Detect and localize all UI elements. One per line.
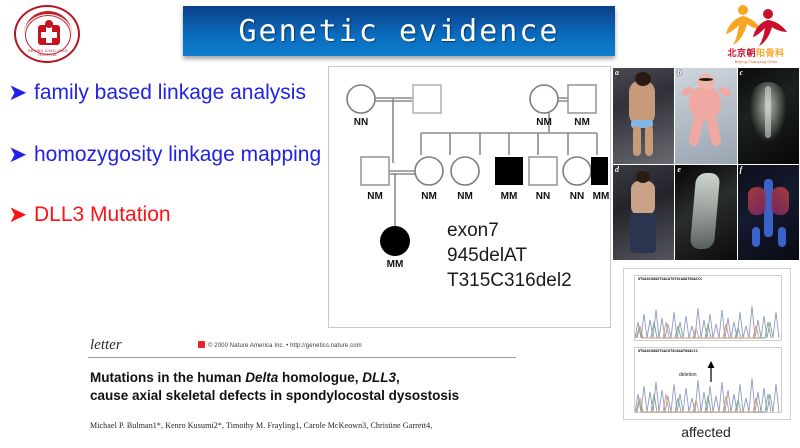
seal-outer-ring: BEIJING CHAO-YANG HOSPITAL <box>14 5 80 63</box>
nature-mark-icon <box>198 341 205 348</box>
journal-section-label: letter <box>90 337 122 354</box>
chromatogram-trace-normal: GTGAGCGGGGTGACATGTGCAGATGGACCC <box>634 275 782 341</box>
photo-b-leg-left <box>688 115 704 146</box>
photo-b-abdomen <box>689 86 721 120</box>
photo-d-trousers <box>630 213 656 253</box>
pedigree-node-II-7 <box>591 157 608 185</box>
genotype-I-1: NN <box>354 117 368 128</box>
arrow-bullet-icon: ➤ <box>8 200 34 230</box>
pedigree-node-II-3 <box>451 157 479 185</box>
photo-label-a: a <box>615 68 619 77</box>
mutation-line-1: exon7 <box>447 218 572 243</box>
bullet-text-2: homozygosity linkage mapping <box>34 140 321 170</box>
deletion-arrow-icon <box>708 361 715 382</box>
paper-title-part-2: homologue, <box>278 370 362 385</box>
pedigree-node-II-2 <box>415 157 443 185</box>
photo-a-leg-left <box>633 126 641 156</box>
genotype-II-3: NM <box>457 191 473 202</box>
genotype-III-1: MM <box>387 259 404 270</box>
photo-d: d <box>613 165 674 261</box>
paper-masthead: letter © 2000 Nature America Inc. • http… <box>88 337 516 358</box>
genotype-II-5: NN <box>536 191 550 202</box>
photo-a-leg-right <box>645 126 653 156</box>
bullet-item-2: ➤ homozygosity linkage mapping <box>8 140 326 170</box>
bullet-list: ➤ family based linkage analysis ➤ homozy… <box>8 78 326 234</box>
logo-right-en: Beijing Chaoyang Ortho <box>716 60 796 64</box>
photo-f-limb-left <box>752 227 760 247</box>
photo-a-head <box>635 72 651 86</box>
trace-peaks-top <box>635 292 781 340</box>
photo-b: b <box>675 68 736 164</box>
clinical-photo-grid: a b c d e <box>613 68 799 260</box>
slide-title-bar: Genetic evidence <box>183 6 615 56</box>
paper-title-italic-delta: Delta <box>245 370 278 385</box>
paper-title: Mutations in the human Delta homologue, … <box>90 369 514 405</box>
page-title: Genetic evidence <box>183 6 615 56</box>
photo-b-arm-right <box>718 86 732 98</box>
photo-e: e <box>675 165 736 261</box>
genotype-II-7: MM <box>593 191 610 202</box>
genotype-II-1: NM <box>367 191 383 202</box>
bullet-text-1: family based linkage analysis <box>34 78 306 108</box>
mutation-line-3: T315C316del2 <box>447 268 572 293</box>
genotype-II-6: NN <box>570 191 584 202</box>
photo-b-leg-right <box>706 115 722 146</box>
dancing-figures-icon <box>716 2 796 48</box>
logo-right-caption: 北京朝阳骨科 Beijing Chaoyang Ortho <box>716 46 796 64</box>
photo-c: c <box>738 68 799 164</box>
bullet-spacer-2 <box>8 174 326 200</box>
paper-title-italic-dll3: DLL3 <box>362 370 396 385</box>
journal-copyright: © 2000 Nature America Inc. • http://gene… <box>198 341 362 349</box>
chromatogram-bases-top: GTGAGCGGGGTGACATGTGCAGATGGACCC <box>638 277 780 281</box>
chaoyang-ortho-logo: 北京朝阳骨科 Beijing Chaoyang Ortho <box>716 2 796 66</box>
logo-right-cn: 北京朝阳骨科 <box>716 46 796 59</box>
paper-authors: Michael P. Bulman1*, Kenro Kusumi2*, Tim… <box>90 421 514 430</box>
bullet-text-3: DLL3 Mutation <box>34 200 171 230</box>
bullet-spacer-1 <box>8 112 326 140</box>
slide-root: BEIJING CHAO-YANG HOSPITAL Genetic evide… <box>0 0 800 448</box>
pedigree-node-I-4 <box>568 85 596 113</box>
photo-f: f <box>738 165 799 261</box>
mutation-annotation: exon7 945delAT T315C316del2 <box>447 218 572 293</box>
seal-caption: BEIJING CHAO-YANG HOSPITAL <box>22 49 74 57</box>
genotype-I-3: NM <box>536 117 552 128</box>
pedigree-node-I-1 <box>347 85 375 113</box>
journal-copyright-text: © 2000 Nature America Inc. • http://gene… <box>208 343 362 349</box>
photo-f-limb-right <box>778 227 786 247</box>
photo-a: a <box>613 68 674 164</box>
photo-label-c: c <box>740 68 744 77</box>
bullet-item-3: ➤ DLL3 Mutation <box>8 200 326 230</box>
hospital-seal-logo: BEIJING CHAO-YANG HOSPITAL <box>10 3 86 67</box>
arrow-bullet-icon: ➤ <box>8 78 34 108</box>
photo-f-ribs-right <box>771 187 789 215</box>
pedigree-node-II-6 <box>563 157 591 185</box>
pedigree-node-I-2 <box>413 85 441 113</box>
chromatogram-panel: GTGAGCGGGGTGACATGTGCAGATGGACCC GTGAGCGGG… <box>623 268 791 420</box>
photo-d-head <box>636 171 650 183</box>
paper-title-part-1: Mutations in the human <box>90 370 245 385</box>
mutation-line-2: 945delAT <box>447 243 572 268</box>
seal-top-dot <box>45 20 53 28</box>
bullet-item-1: ➤ family based linkage analysis <box>8 78 326 108</box>
genotype-II-2: NM <box>421 191 437 202</box>
paper-title-line-2: cause axial skeletal defects in spondylo… <box>90 388 459 403</box>
pedigree-node-II-1 <box>361 157 389 185</box>
photo-label-b: b <box>677 68 681 77</box>
genotype-II-4: MM <box>501 191 518 202</box>
chromatogram-caption: affected <box>613 424 799 440</box>
photo-label-f: f <box>740 165 743 174</box>
chromatogram-trace-affected: GTGAGCGGGGTGACGTGCAGATGGACCC deletion <box>634 347 782 413</box>
photo-label-d: d <box>615 165 619 174</box>
arrow-bullet-icon: ➤ <box>8 140 34 170</box>
genotype-I-4: NM <box>574 117 590 128</box>
photo-d-torso <box>631 181 655 215</box>
pedigree-node-III-1 <box>380 226 410 256</box>
cross-horizontal-bar <box>41 32 57 38</box>
pedigree-panel: NN NM NM NM NM NM MM NN NN MM MM exon7 9… <box>328 66 611 328</box>
paper-title-part-3: , <box>396 370 400 385</box>
trace-peaks-bottom <box>635 358 781 414</box>
pedigree-node-II-5 <box>529 157 557 185</box>
chromatogram-bases-bottom: GTGAGCGGGGTGACGTGCAGATGGACCC <box>638 349 780 353</box>
pedigree-node-I-3 <box>530 85 558 113</box>
photo-f-ribs-left <box>748 187 766 215</box>
paper-clipping: letter © 2000 Nature America Inc. • http… <box>88 337 516 448</box>
photo-c-spine <box>765 86 771 138</box>
photo-e-spine-column <box>690 173 721 249</box>
pedigree-node-II-4 <box>495 157 523 185</box>
photo-label-e: e <box>677 165 681 174</box>
